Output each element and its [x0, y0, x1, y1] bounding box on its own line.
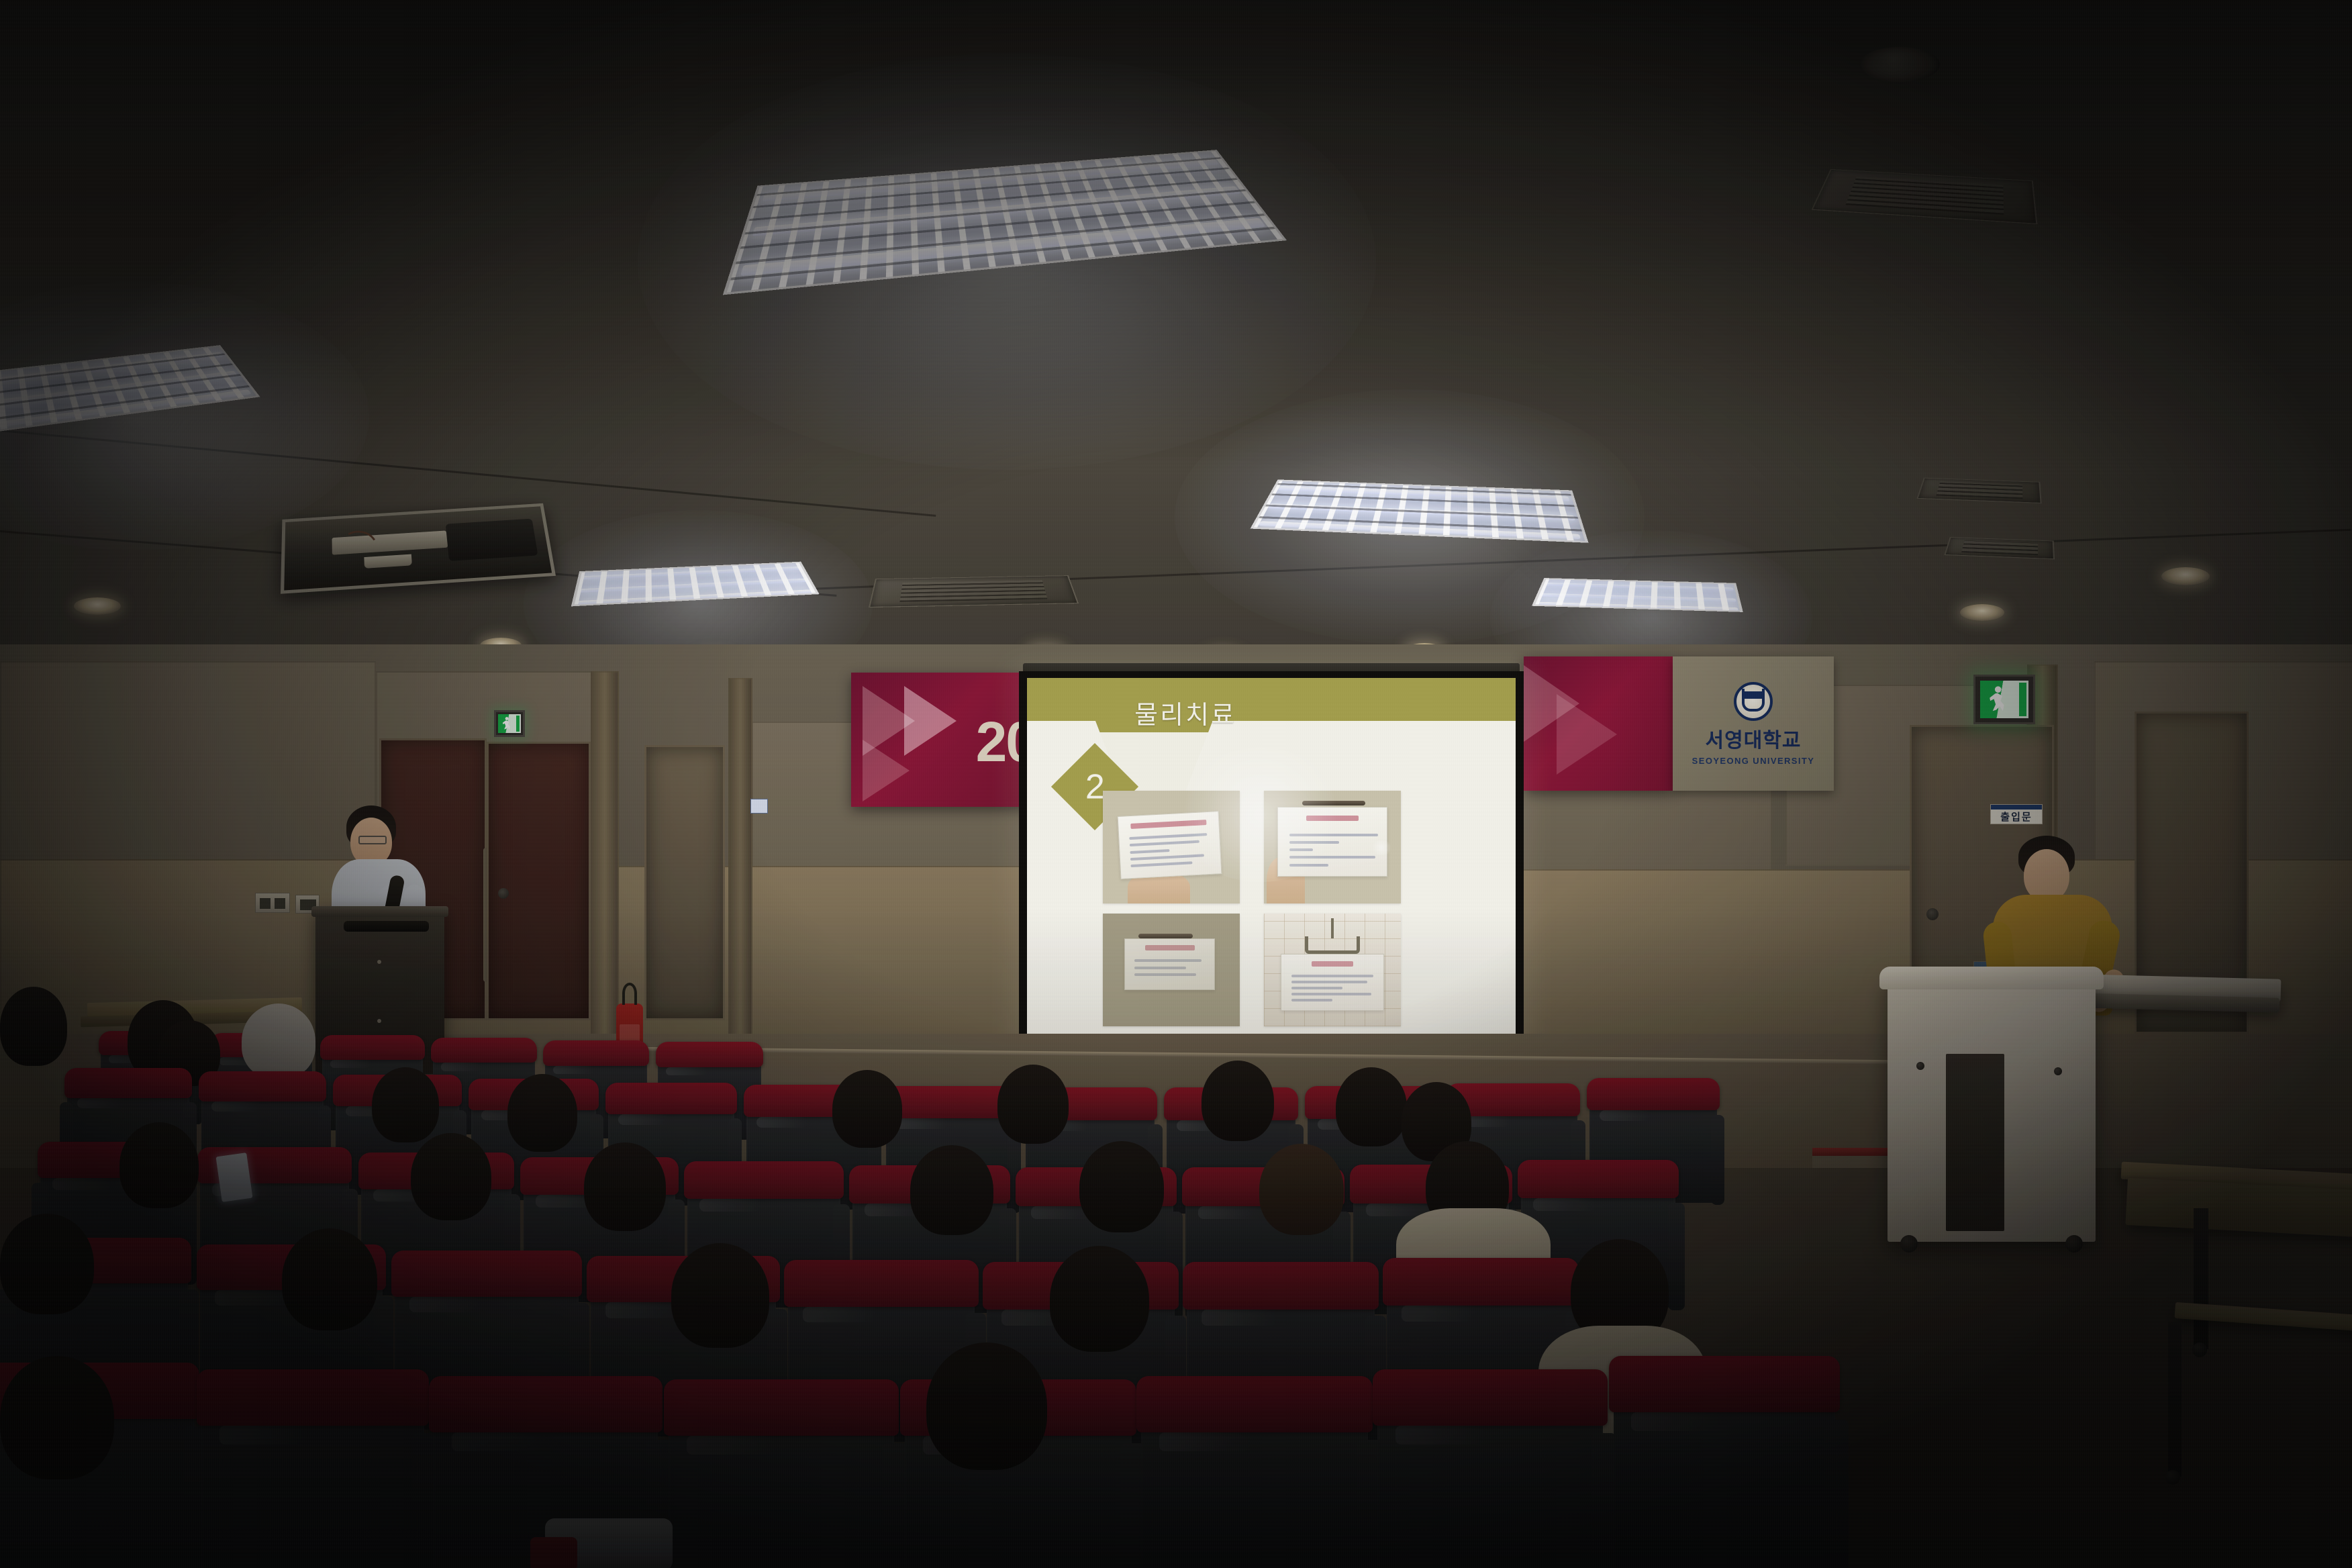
- university-crest-icon: [1734, 682, 1773, 721]
- foreground-red-object: [530, 1537, 577, 1568]
- chevron-icon: [863, 740, 910, 801]
- banner-left: 20: [851, 673, 1041, 807]
- table-caster: [2165, 1470, 2180, 1485]
- audience-head: [832, 1070, 902, 1148]
- wall-pillar: [728, 678, 752, 1061]
- audience-head: [926, 1342, 1047, 1470]
- audience-head: [584, 1142, 666, 1231]
- audience-head: [910, 1145, 993, 1235]
- slide-thumbnail: [1103, 914, 1240, 1026]
- audience-head: [0, 987, 67, 1066]
- lectern-lock-knob[interactable]: [2054, 1067, 2062, 1075]
- chevron-icon: [904, 686, 957, 756]
- door-sign-label: 출입문: [1991, 810, 2042, 824]
- audience-head: [1259, 1144, 1344, 1235]
- audience-head: [119, 1122, 199, 1208]
- lectern-front-panel: [1946, 1054, 2004, 1231]
- university-name-kr: 서영대학교: [1706, 724, 1802, 753]
- audience-head: [0, 1356, 114, 1479]
- mobile-lectern[interactable]: [1888, 973, 2096, 1242]
- seat[interactable]: [1614, 1386, 1835, 1568]
- table-caster: [2192, 1342, 2207, 1357]
- seat[interactable]: [201, 1400, 424, 1568]
- seat[interactable]: [1377, 1400, 1603, 1568]
- lecture-hall-photo: 출입문 20: [0, 0, 2352, 1568]
- seat[interactable]: [669, 1410, 894, 1568]
- lectern-caster: [1900, 1235, 1918, 1253]
- banner-right-backdrop: [1524, 656, 1673, 791]
- wall-pillar: [591, 671, 619, 1061]
- audience-head: [282, 1228, 377, 1330]
- slide-title: 물리치료: [1134, 694, 1236, 731]
- audience-head: [1336, 1067, 1407, 1146]
- presenter-right-head: [2024, 849, 2069, 901]
- audience-head: [1202, 1061, 1274, 1141]
- audience-head: [997, 1065, 1069, 1144]
- wall-switch-plate[interactable]: [255, 893, 290, 913]
- wall-sign-small: [750, 799, 768, 814]
- exit-sign-left: [494, 710, 525, 737]
- table-leg: [2194, 1208, 2208, 1349]
- seat[interactable]: [1141, 1406, 1368, 1568]
- door-sign-exit: 출입문: [1990, 804, 2043, 824]
- running-man-icon: [1985, 685, 2015, 715]
- slide-section-number: 2: [1085, 767, 1104, 807]
- door-side-left[interactable]: [644, 745, 725, 1020]
- audience-head: [1050, 1246, 1149, 1352]
- audience-head: [242, 1003, 315, 1079]
- table-leg: [2168, 1322, 2182, 1477]
- recessed-downlight: [1960, 604, 2004, 621]
- audience-head: [671, 1243, 769, 1348]
- recessed-downlight: [2161, 567, 2210, 585]
- ceiling-speaker: [1859, 47, 1940, 82]
- audience-head: [507, 1074, 577, 1152]
- projection-screen: 물리치료 2: [1027, 678, 1516, 1067]
- audience-head: [411, 1133, 491, 1220]
- university-name-en: SEOYEONG UNIVERSITY: [1692, 756, 1815, 766]
- glasses-icon: [358, 836, 387, 844]
- exit-sign-right: [1973, 675, 2035, 724]
- running-man-icon: [501, 716, 515, 731]
- lectern-lock-knob[interactable]: [1916, 1062, 1924, 1070]
- recessed-downlight: [74, 597, 121, 615]
- wall-panel: [0, 661, 376, 863]
- presentation-slide: 물리치료 2: [1027, 678, 1516, 1067]
- chevron-icon: [1557, 694, 1617, 775]
- audience-head: [0, 1214, 94, 1314]
- university-banner: 서영대학교 SEOYEONG UNIVERSITY: [1673, 656, 1834, 791]
- projector: [445, 518, 538, 561]
- hvac-vent: [869, 575, 1079, 607]
- door-handle[interactable]: [1926, 908, 1939, 920]
- audience-head: [372, 1067, 439, 1142]
- slide-thumbnail: [1264, 914, 1401, 1026]
- audience-head: [1079, 1141, 1164, 1232]
- phone-screen[interactable]: [215, 1153, 252, 1202]
- door-left-2[interactable]: [487, 742, 591, 1020]
- podium-mic-tray: [344, 921, 429, 932]
